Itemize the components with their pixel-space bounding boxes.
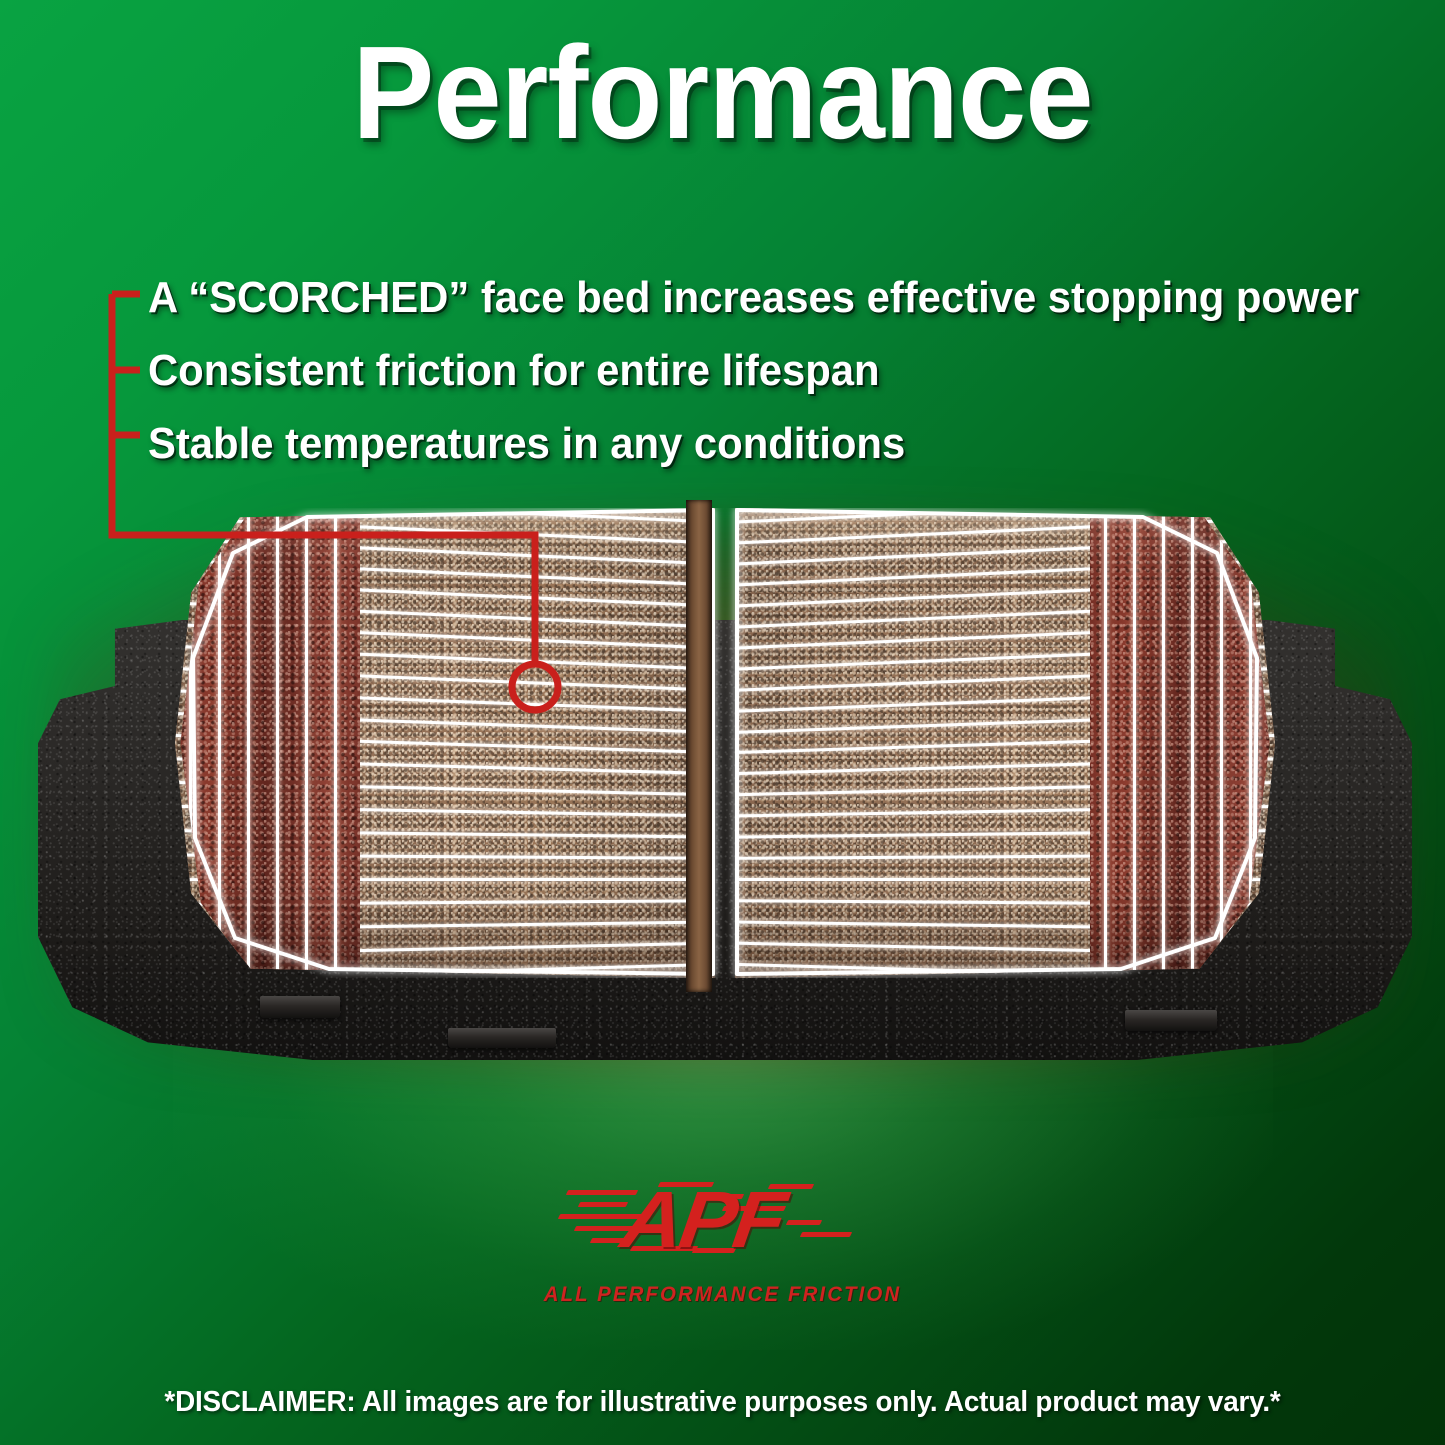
product-marketing-image: Performance A “SCORCHED” face bed increa…: [0, 0, 1445, 1445]
brake-pad-image: [30, 500, 1420, 1080]
apf-logo-mark: APF: [573, 1176, 873, 1262]
chamfer-line: [305, 508, 308, 978]
chamfer-line: [1220, 508, 1223, 978]
speed-streak: [799, 1232, 851, 1237]
chamfer-line: [1133, 508, 1136, 978]
chamfer-line: [218, 508, 221, 978]
brand-logo: APF ALL PERFORMANCE FRICTION: [0, 1176, 1445, 1307]
chamfer-line: [334, 508, 337, 978]
speed-streak: [577, 1202, 627, 1207]
chamfer-line: [1162, 508, 1165, 978]
logo-tagline: ALL PERFORMANCE FRICTION: [22, 1283, 1424, 1307]
brake-pad-friction-face: [175, 508, 1275, 978]
logo-wordmark: APF: [616, 1174, 789, 1266]
friction-face-right-half: [735, 508, 1275, 978]
mounting-tab: [1125, 1010, 1217, 1031]
speed-streak: [785, 1220, 821, 1225]
mounting-tab: [260, 996, 340, 1018]
feature-item-1: A “SCORCHED” face bed increases effectiv…: [148, 276, 1364, 320]
chamfer-line: [1191, 508, 1194, 978]
friction-face-left-half: [175, 508, 715, 978]
chamfer-line: [1104, 508, 1107, 978]
brake-pad-center-slot: [686, 500, 712, 992]
page-title: Performance: [51, 24, 1395, 163]
chamfer-line: [247, 508, 250, 978]
feature-item-2: Consistent friction for entire lifespan: [148, 349, 1364, 393]
disclaimer-text: *DISCLAIMER: All images are for illustra…: [29, 1386, 1416, 1419]
chamfer-line: [189, 508, 192, 978]
feature-list: A “SCORCHED” face bed increases effectiv…: [148, 276, 1428, 466]
feature-item-3: Stable temperatures in any conditions: [148, 422, 1364, 466]
mounting-tab: [448, 1028, 556, 1048]
chamfer-line: [276, 508, 279, 978]
